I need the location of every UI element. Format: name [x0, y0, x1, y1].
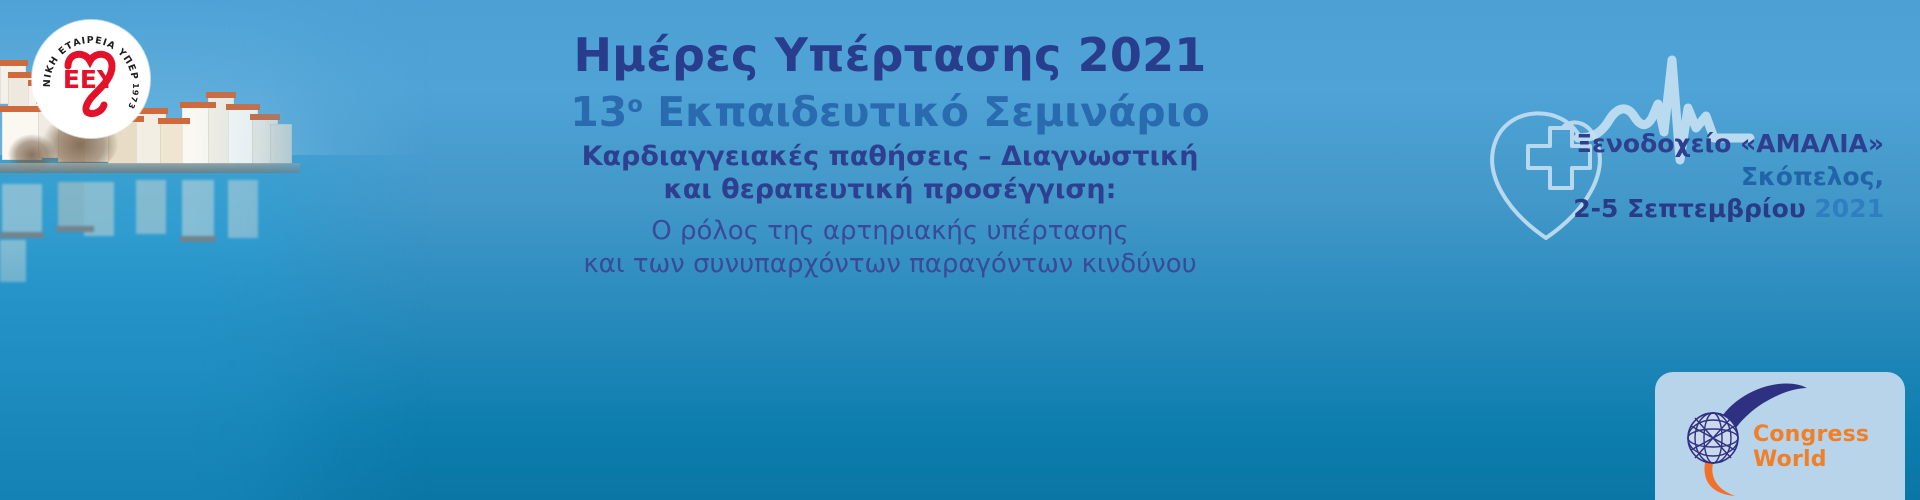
- seminar-ordinal: ο: [627, 92, 643, 118]
- venue-hotel: Ξενοδοχείο «ΑΜΑΛΙΑ»: [1573, 128, 1884, 161]
- venue-dates-range: 2-5 Σεπτεμβρίου: [1573, 194, 1814, 223]
- congress-world-logo[interactable]: Congress World: [1655, 372, 1905, 500]
- page-title: Ημέρες Υπέρτασης 2021: [380, 28, 1400, 82]
- seminar-subtitle: 13ο Εκπαιδευτικό Σεμινάριο: [380, 88, 1400, 136]
- congress-world-label: Congress World: [1753, 422, 1905, 472]
- title-block: Ημέρες Υπέρτασης 2021 13ο Εκπαιδευτικό Σ…: [380, 28, 1400, 282]
- theme-line-1: Καρδιαγγειακές παθήσεις – Διαγνωστική: [380, 141, 1400, 174]
- venue-dates: 2-5 Σεπτεμβρίου 2021: [1573, 193, 1884, 226]
- venue-info: Ξενοδοχείο «ΑΜΑΛΙΑ» Σκόπελος, 2-5 Σεπτεμ…: [1573, 128, 1884, 226]
- seminar-subtitle-rest: Εκπαιδευτικό Σεμινάριο: [643, 88, 1210, 136]
- theme-line-2: και θεραπευτική προσέγγιση:: [380, 174, 1400, 207]
- conference-banner: ΕΛΛΗΝΙΚΗ ΕΤΑΙΡΕΙΑ ΥΠΕΡΤΑΣΗΣ 1973 EEY Ημέ…: [0, 0, 1920, 500]
- theme-line-4: και των συνυπαρχόντων παραγόντων κινδύνο…: [380, 248, 1400, 282]
- eey-society-logo: ΕΛΛΗΝΙΚΗ ΕΤΑΙΡΕΙΑ ΥΠΕΡΤΑΣΗΣ 1973 EEY: [32, 20, 150, 138]
- eey-logo-acronym: EEY: [63, 65, 116, 94]
- seminar-number: 13: [570, 88, 627, 136]
- photo-sea-fade: [0, 240, 430, 500]
- theme-line-3: Ο ρόλος της αρτηριακής υπέρτασης: [380, 215, 1400, 249]
- venue-city: Σκόπελος,: [1573, 161, 1884, 194]
- venue-dates-year: 2021: [1814, 194, 1884, 223]
